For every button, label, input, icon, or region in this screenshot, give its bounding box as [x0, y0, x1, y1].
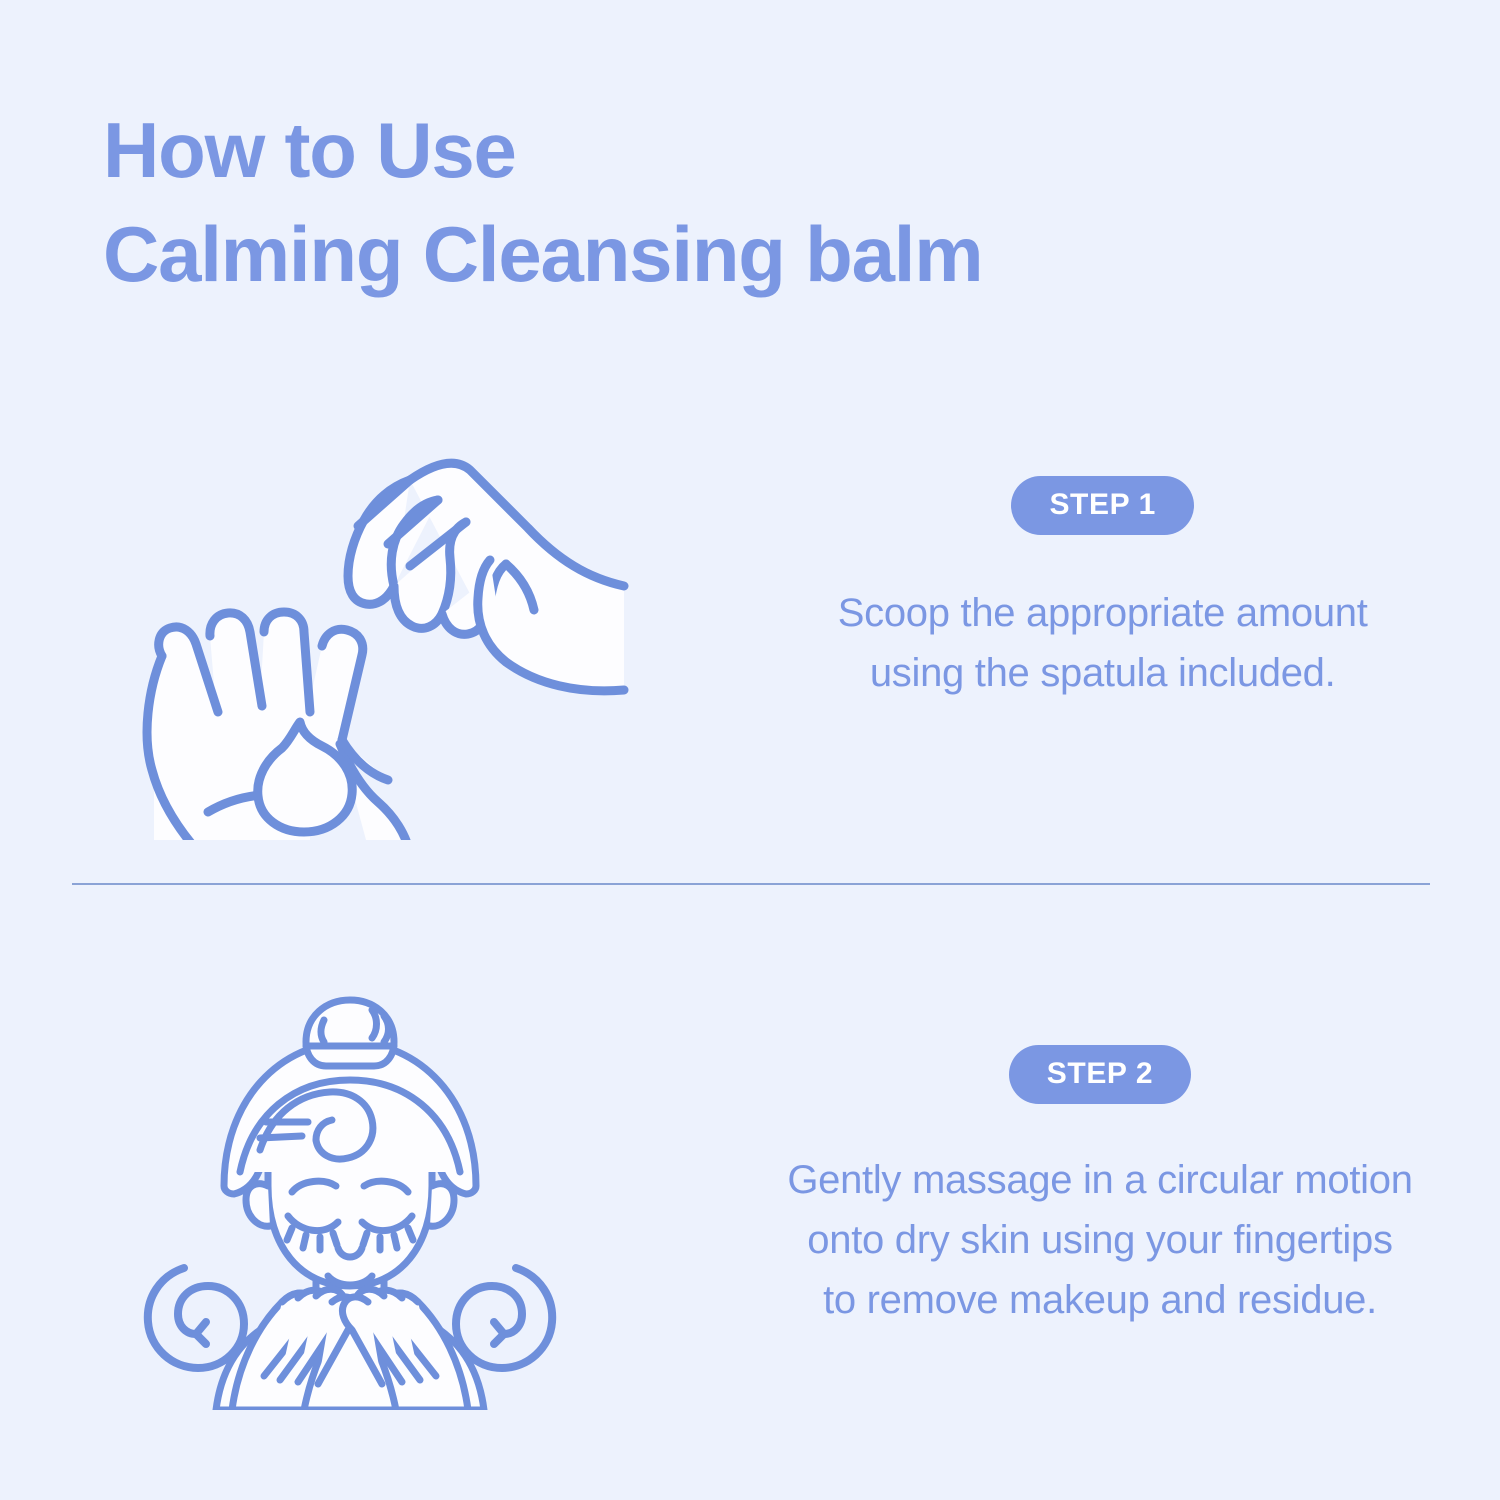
step-1-illustration-column [0, 440, 705, 840]
step-1-description: Scoop the appropriate amount using the s… [838, 583, 1368, 703]
woman-massaging-face-icon [120, 990, 580, 1410]
page-title-line-1: How to Use [103, 98, 1303, 202]
step-2-badge: STEP 2 [1009, 1045, 1191, 1104]
step-section-2: STEP 2 Gently massage in a circular moti… [0, 990, 1500, 1410]
hands-scooping-balm-icon [58, 440, 658, 840]
step-section-1: STEP 1 Scoop the appropriate amount usin… [0, 440, 1500, 840]
step-2-description-line-3: to remove makeup and residue. [787, 1270, 1412, 1330]
section-divider [72, 883, 1430, 885]
step-2-illustration-column [0, 990, 700, 1410]
page-title: How to Use Calming Cleansing balm [103, 98, 1303, 306]
step-1-badge: STEP 1 [1011, 476, 1193, 535]
step-2-description-line-1: Gently massage in a circular motion [787, 1150, 1412, 1210]
step-1-text-column: STEP 1 Scoop the appropriate amount usin… [705, 440, 1500, 703]
step-1-description-line-2: using the spatula included. [838, 643, 1368, 703]
step-2-description: Gently massage in a circular motion onto… [787, 1150, 1412, 1330]
step-2-description-line-2: onto dry skin using your fingertips [787, 1210, 1412, 1270]
step-2-text-column: STEP 2 Gently massage in a circular moti… [700, 990, 1500, 1330]
infographic-page: How to Use Calming Cleansing balm [0, 0, 1500, 1500]
step-1-description-line-1: Scoop the appropriate amount [838, 583, 1368, 643]
page-title-line-2: Calming Cleansing balm [103, 202, 1303, 306]
